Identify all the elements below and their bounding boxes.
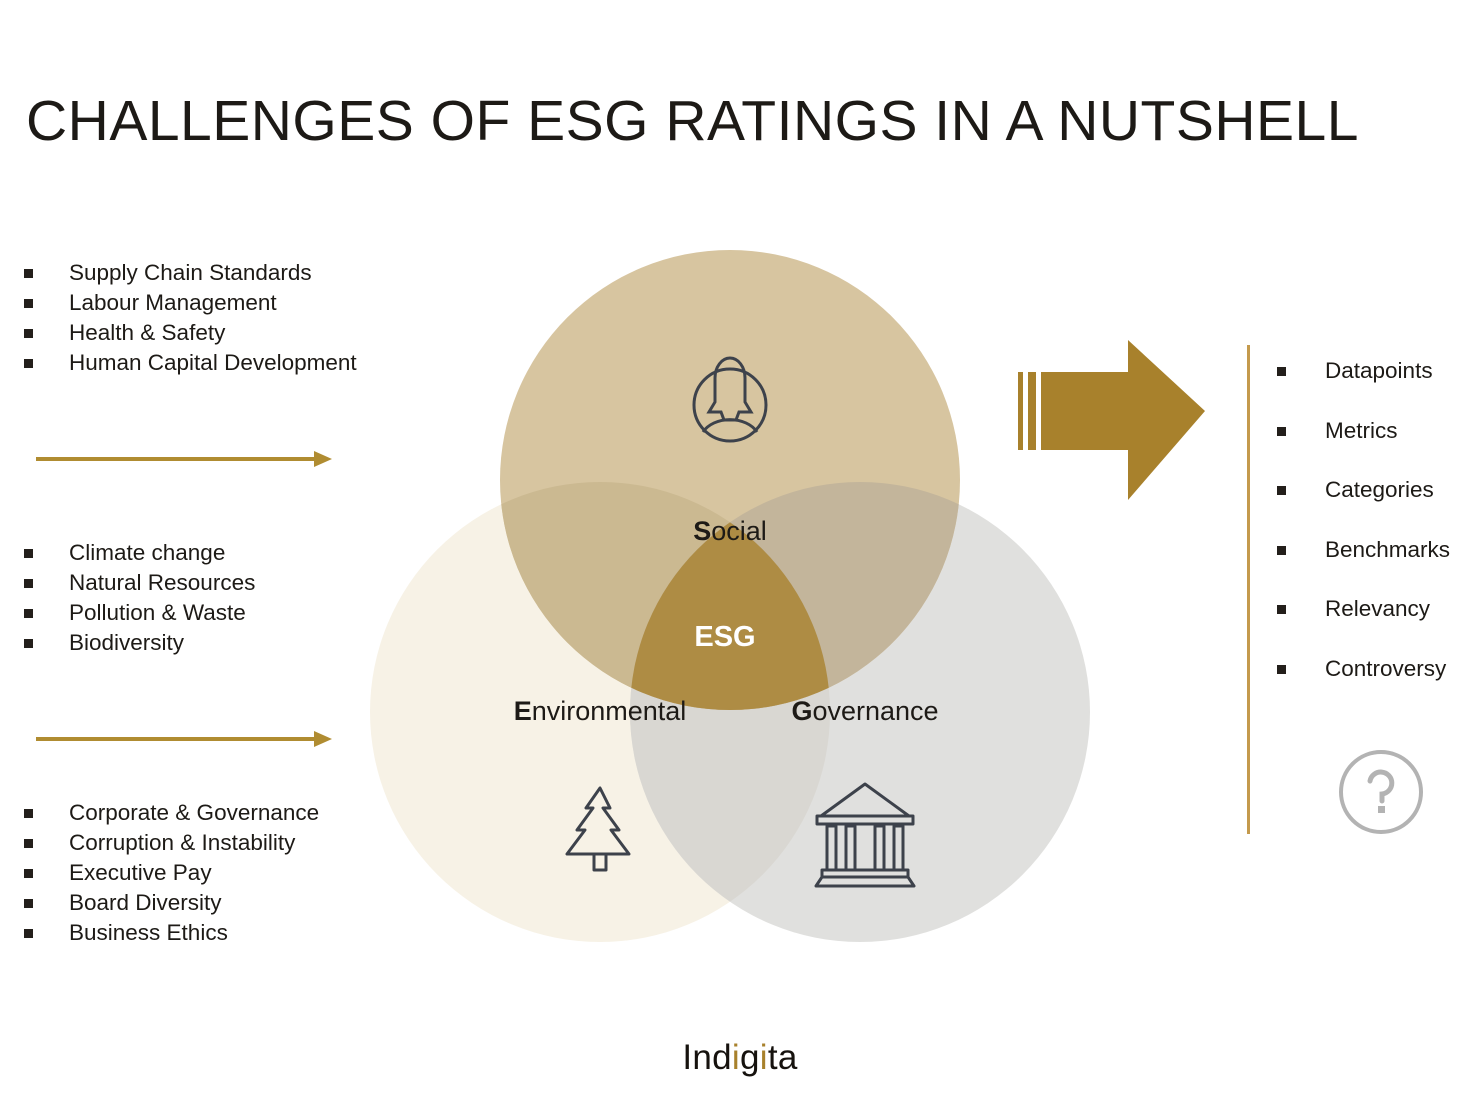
venn-label-social: Social (693, 516, 767, 546)
brand-name-part5: ta (768, 1038, 798, 1077)
list-item: Datapoints (1277, 358, 1477, 418)
bullet-label: Supply Chain Standards (69, 258, 312, 288)
question-mark-icon (1337, 748, 1425, 836)
brand-name-part4: i (760, 1038, 768, 1077)
square-bullet-icon (24, 899, 33, 908)
square-bullet-icon (24, 359, 33, 368)
esg-center-label: ESG (694, 621, 755, 653)
bullet-label: Metrics (1325, 418, 1398, 444)
bullet-label: Pollution & Waste (69, 598, 246, 628)
square-bullet-icon (1277, 605, 1286, 614)
bullet-label: Board Diversity (69, 888, 222, 918)
bullet-label: Executive Pay (69, 858, 212, 888)
bullet-label: Labour Management (69, 288, 277, 318)
list-item: Benchmarks (1277, 537, 1477, 597)
square-bullet-icon (1277, 665, 1286, 674)
bullet-label: Business Ethics (69, 918, 228, 948)
bullet-label: Categories (1325, 477, 1434, 503)
square-bullet-icon (24, 869, 33, 878)
list-item: Metrics (1277, 418, 1477, 478)
square-bullet-icon (1277, 486, 1286, 495)
bullet-label: Relevancy (1325, 596, 1430, 622)
gold-arrow-icon (1000, 330, 1220, 510)
bullet-label: Corruption & Instability (69, 828, 295, 858)
right-vertical-rule (1247, 345, 1250, 834)
bullet-label: Health & Safety (69, 318, 225, 348)
venn-label-governance: Governance (791, 696, 938, 726)
square-bullet-icon (24, 269, 33, 278)
square-bullet-icon (24, 929, 33, 938)
bullet-label: Benchmarks (1325, 537, 1450, 563)
square-bullet-icon (24, 609, 33, 618)
brand-name-part3: g (740, 1038, 760, 1077)
right-output-list: Datapoints Metrics Categories Benchmarks… (1277, 358, 1477, 716)
page-title: CHALLENGES OF ESG RATINGS IN A NUTSHELL (26, 88, 1359, 154)
list-item: Relevancy (1277, 596, 1477, 656)
connector-arrow-icon (36, 449, 332, 469)
bullet-label: Corporate & Governance (69, 798, 319, 828)
square-bullet-icon (24, 329, 33, 338)
brand-name-part1: Ind (682, 1038, 732, 1077)
square-bullet-icon (1277, 427, 1286, 436)
list-item: Controversy (1277, 656, 1477, 716)
square-bullet-icon (24, 809, 33, 818)
bullet-label: Controversy (1325, 656, 1446, 682)
square-bullet-icon (24, 579, 33, 588)
square-bullet-icon (1277, 546, 1286, 555)
bullet-label: Human Capital Development (69, 348, 357, 378)
square-bullet-icon (24, 299, 33, 308)
bullet-label: Biodiversity (69, 628, 184, 658)
connector-arrow-icon (36, 729, 332, 749)
slide-canvas: CHALLENGES OF ESG RATINGS IN A NUTSHELL … (0, 0, 1480, 1114)
bullet-label: Climate change (69, 538, 225, 568)
square-bullet-icon (24, 839, 33, 848)
venn-label-environmental: Environmental (514, 696, 687, 726)
list-item: Categories (1277, 477, 1477, 537)
square-bullet-icon (1277, 367, 1286, 376)
brand-name-part2: i (732, 1038, 740, 1077)
bullet-label: Natural Resources (69, 568, 255, 598)
square-bullet-icon (24, 549, 33, 558)
bullet-label: Datapoints (1325, 358, 1433, 384)
square-bullet-icon (24, 639, 33, 648)
brand-logo: Indigita (0, 1038, 1480, 1078)
